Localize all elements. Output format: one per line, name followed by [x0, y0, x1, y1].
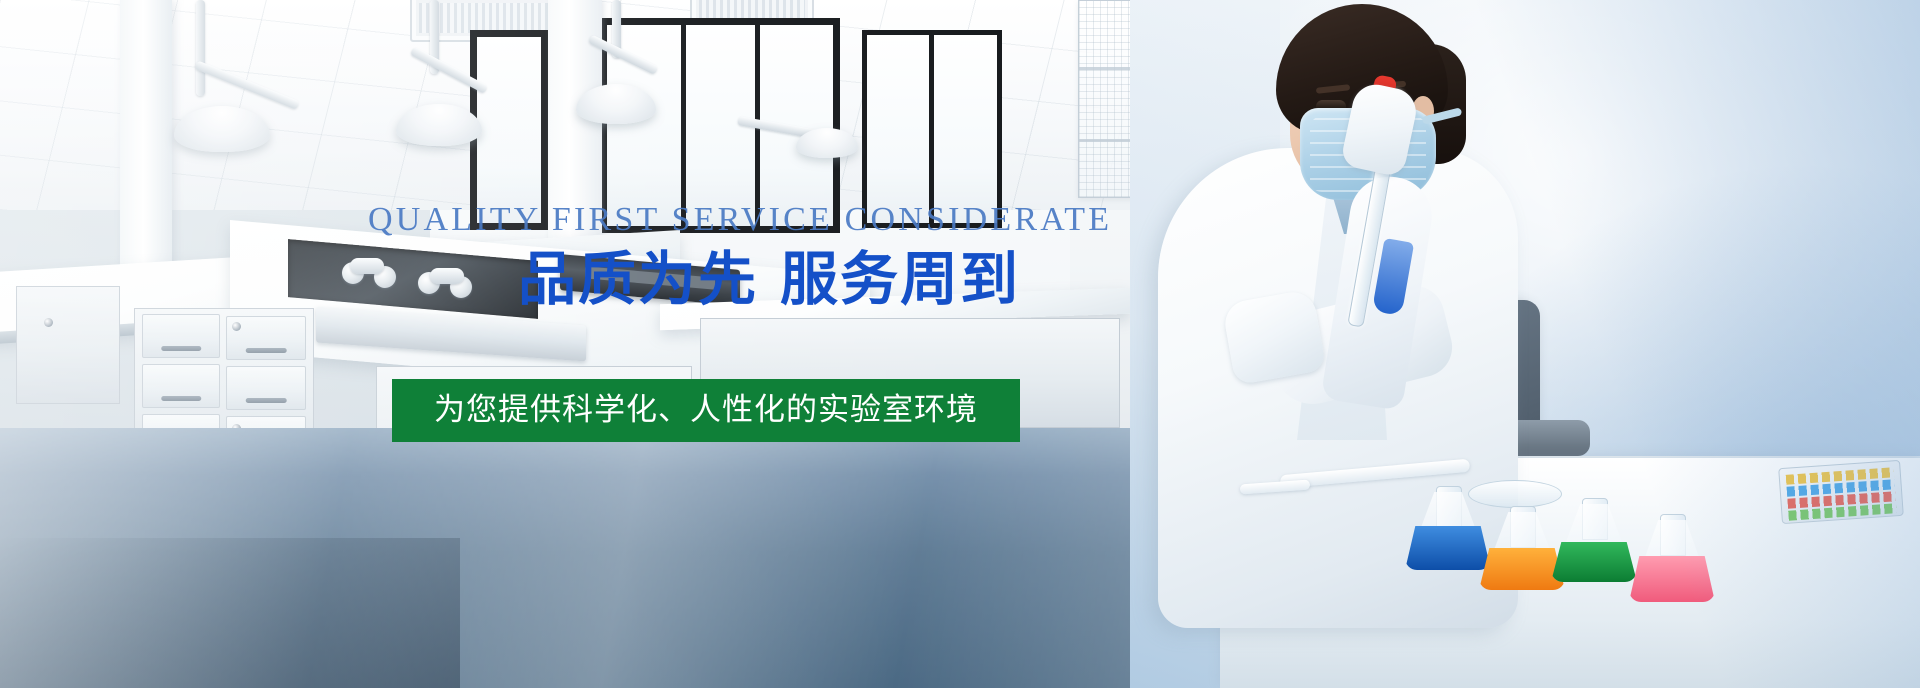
flask-liquid-blue — [1405, 526, 1491, 570]
window — [600, 18, 840, 233]
window — [862, 30, 1002, 228]
pipette-tip-rack — [1778, 460, 1904, 524]
petri-dish — [1468, 480, 1562, 508]
cabinet-drawer — [226, 366, 306, 410]
flask-liquid-green — [1551, 542, 1637, 582]
flask-liquid-orange — [1479, 548, 1565, 590]
cabinet-drawer — [142, 314, 220, 358]
cabinet-drawer — [142, 364, 220, 408]
fume-hood-icon — [796, 128, 858, 158]
cabinet-lock-icon — [232, 322, 241, 331]
drawer-pull-icon — [161, 396, 201, 401]
cabinet-lock-icon — [44, 318, 53, 327]
structural-pillar — [120, 0, 172, 286]
gas-valve-icon — [430, 268, 464, 284]
lab-interior-photo — [0, 0, 1920, 688]
hero-banner: QUALITY FIRST SERVICE CONSIDERATE 品质为先服务… — [0, 0, 1920, 688]
banner-subtitle-bar[interactable]: 为您提供科学化、人性化的实验室环境 — [392, 379, 1020, 442]
drawer-pull-icon — [161, 346, 201, 351]
base-cabinet — [16, 286, 120, 404]
floor-shadow — [0, 538, 460, 688]
extraction-arm — [196, 0, 205, 96]
window-mullion — [929, 35, 934, 223]
glove-lower — [1222, 289, 1327, 386]
gas-valve-icon — [350, 258, 384, 274]
drawer-pull-icon — [246, 348, 287, 353]
window-mullion — [681, 25, 686, 226]
banner-subtitle-text: 为您提供科学化、人性化的实验室环境 — [434, 395, 978, 426]
drawer-pull-icon — [246, 398, 287, 403]
flask-liquid-pink — [1629, 556, 1715, 602]
technician-scene — [1130, 0, 1920, 688]
